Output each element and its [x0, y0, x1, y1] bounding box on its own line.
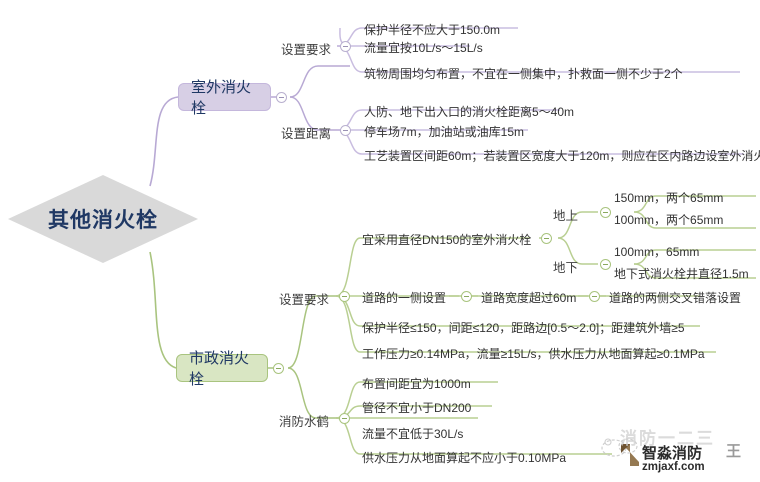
collapse-toggle-icon-below-ground[interactable] — [600, 259, 611, 270]
group-label-outdoor-requirements[interactable]: 设置要求 — [281, 39, 331, 58]
watermark-tail: 王 — [726, 440, 741, 461]
group-label-municipal-requirements[interactable]: 设置要求 — [279, 289, 329, 308]
leaf-item[interactable]: 宜采用直径DN150的室外消火栓 — [362, 231, 531, 248]
leaf-item[interactable]: 100mm，两个65mm — [614, 211, 723, 228]
collapse-toggle-icon-municipal-requirements[interactable] — [339, 291, 350, 302]
collapse-toggle-icon-chain-1[interactable] — [461, 291, 472, 302]
chain-item-road-both-sides[interactable]: 道路的两侧交叉错落设置 — [609, 289, 741, 306]
branch-outdoor-hydrant[interactable]: 室外消火栓 — [178, 83, 271, 111]
collapse-toggle-icon-above-ground[interactable] — [600, 207, 611, 218]
group-label-outdoor-distance[interactable]: 设置距离 — [281, 123, 331, 142]
root-label: 其他消火栓 — [8, 175, 198, 263]
collapse-toggle-icon-outdoor[interactable] — [276, 92, 287, 103]
collapse-toggle-icon-fire-water-crane[interactable] — [339, 413, 350, 424]
leaf-item[interactable]: 流量宜按10L/s～15L/s — [364, 39, 483, 56]
leaf-item[interactable]: 保护半径不应大于150.0m — [364, 21, 500, 38]
collapse-toggle-icon-chain-2[interactable] — [589, 291, 600, 302]
leaf-item[interactable]: 筑物周围均匀布置，不宜在一侧集中，扑救面一侧不少于2个 — [364, 65, 683, 82]
collapse-toggle-icon-outdoor-requirements[interactable] — [340, 41, 351, 52]
group-label-fire-water-crane[interactable]: 消防水鹤 — [279, 411, 329, 430]
branch-outdoor-hydrant-label: 室外消火栓 — [191, 76, 258, 118]
leaf-item[interactable]: 工作压力≥0.14MPa，流量≥15L/s，供水压力从地面算起≥0.1MPa — [362, 345, 705, 362]
leaf-item[interactable]: 流量不宜低于30L/s — [362, 425, 463, 442]
chain-item-road-width[interactable]: 道路宽度超过60m — [481, 289, 576, 306]
subtype-label-above-ground[interactable]: 地上 — [553, 205, 578, 224]
watermark-url: zmjaxf.com — [642, 461, 705, 473]
collapse-toggle-icon-outdoor-distance[interactable] — [340, 125, 351, 136]
leaf-item[interactable]: 人防、地下出入口的消火栓距离5～40m — [364, 103, 574, 120]
branch-municipal-hydrant[interactable]: 市政消火栓 — [176, 354, 268, 382]
mindmap-canvas: 其他消火栓 室外消火栓 设置要求 设置距离 保护半径不应大于150.0m 流量宜… — [0, 0, 760, 482]
leaf-item[interactable]: 停车场7m，加油站或油库15m — [364, 123, 524, 140]
leaf-item[interactable]: 工艺装置区间距60m；若装置区宽度大于120m，则应在区内路边设室外消火栓 — [364, 147, 760, 164]
leaf-item[interactable]: 布置间距宜为1000m — [362, 375, 471, 392]
subtype-label-below-ground[interactable]: 地下 — [553, 257, 578, 276]
watermark-brand: 智淼消防 — [642, 442, 702, 463]
leaf-item[interactable]: 150mm，两个65mm — [614, 189, 723, 206]
collapse-toggle-icon-municipal[interactable] — [273, 363, 284, 374]
watermark: 消防一二三 智淼消防 王 zmjaxf.com — [598, 424, 756, 480]
chain-item-road-one-side[interactable]: 道路的一侧设置 — [362, 289, 446, 306]
root-node[interactable]: 其他消火栓 — [8, 175, 198, 263]
leaf-item[interactable]: 供水压力从地面算起不应小于0.10MPa — [362, 449, 566, 466]
collapse-toggle-icon-dn150[interactable] — [541, 233, 552, 244]
branch-municipal-hydrant-label: 市政消火栓 — [189, 347, 255, 389]
leaf-item[interactable]: 管径不宜小于DN200 — [362, 399, 471, 416]
leaf-item[interactable]: 地下式消火栓井直径1.5m — [614, 265, 749, 282]
leaf-item[interactable]: 100mm，65mm — [614, 243, 699, 260]
leaf-item[interactable]: 保护半径≤150，间距≤120，距路边[0.5～2.0]；距建筑外墙≥5 — [362, 319, 685, 336]
